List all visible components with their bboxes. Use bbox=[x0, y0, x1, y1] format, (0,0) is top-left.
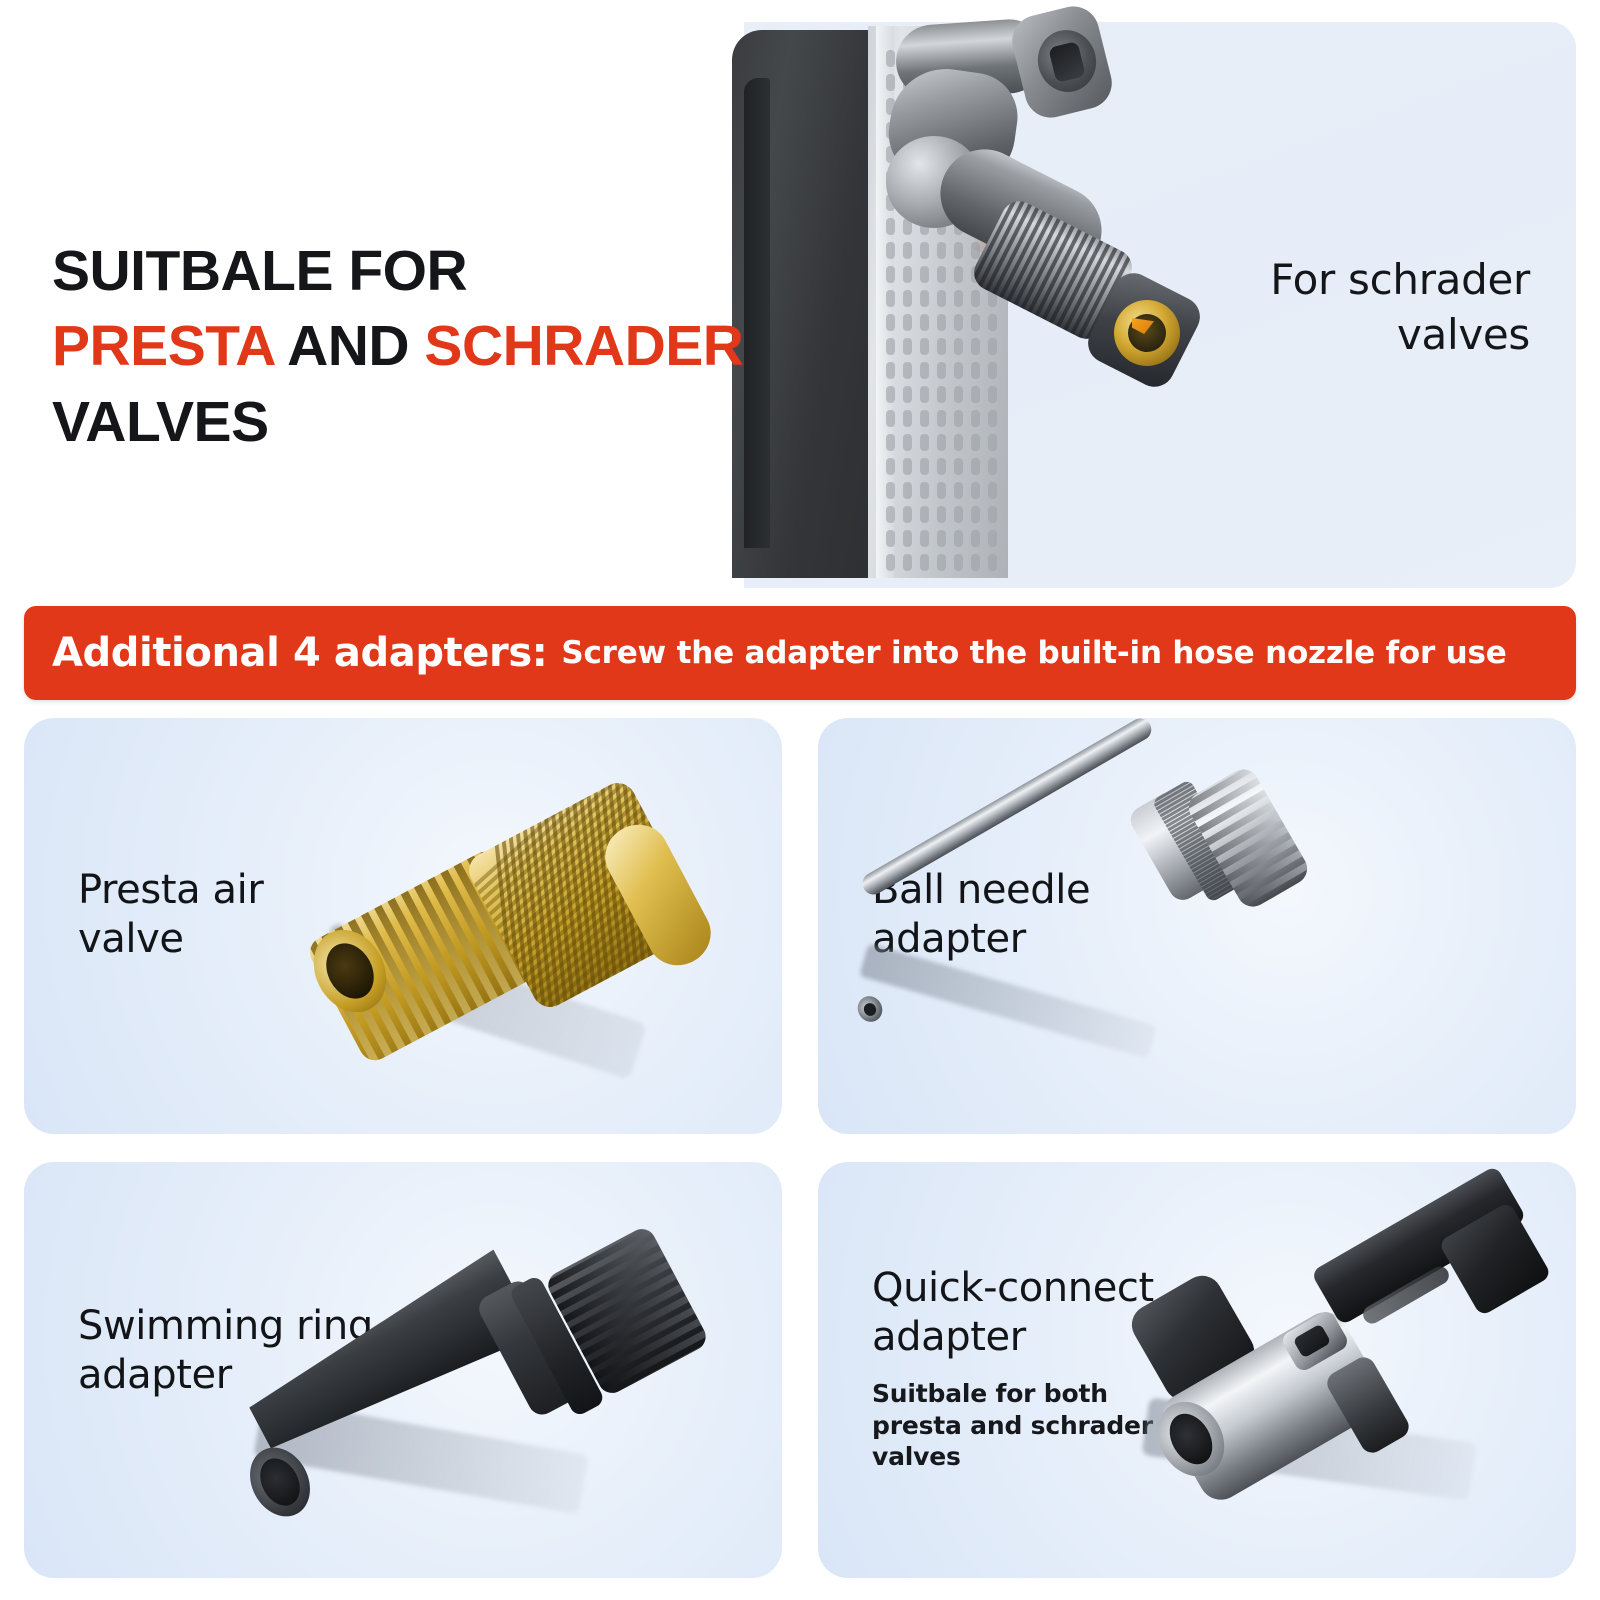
vent-hole bbox=[903, 482, 912, 499]
needle-shadow bbox=[859, 943, 1157, 1058]
vent-hole bbox=[954, 290, 963, 307]
headline-schrader: SCHRADER bbox=[424, 314, 743, 378]
vent-hole bbox=[886, 266, 895, 283]
vent-hole bbox=[920, 338, 929, 355]
vent-hole bbox=[937, 434, 946, 451]
vent-hole bbox=[920, 314, 929, 331]
adapter-card-grid: Presta air valve Ball needle adapter Swi… bbox=[24, 718, 1576, 1578]
vent-hole bbox=[886, 338, 895, 355]
vent-hole bbox=[937, 362, 946, 379]
headline-presta: PRESTA bbox=[52, 314, 274, 378]
vent-hole bbox=[937, 242, 946, 259]
vent-hole bbox=[937, 458, 946, 475]
vent-hole bbox=[937, 410, 946, 427]
vent-hole bbox=[886, 362, 895, 379]
vent-hole bbox=[971, 362, 980, 379]
vent-hole bbox=[988, 314, 997, 331]
vent-hole bbox=[903, 506, 912, 523]
vent-hole bbox=[937, 314, 946, 331]
swimming-ring-illustration bbox=[250, 1210, 750, 1540]
vent-hole bbox=[903, 410, 912, 427]
vent-hole bbox=[971, 290, 980, 307]
vent-hole bbox=[886, 434, 895, 451]
vent-hole bbox=[903, 338, 912, 355]
vent-hole bbox=[903, 554, 912, 571]
presta-valve-illustration bbox=[294, 776, 724, 1096]
vent-hole bbox=[886, 482, 895, 499]
adapters-banner: Additional 4 adapters: Screw the adapter… bbox=[24, 606, 1576, 700]
vent-hole bbox=[903, 266, 912, 283]
vent-hole bbox=[937, 506, 946, 523]
vent-hole bbox=[920, 266, 929, 283]
vent-hole bbox=[988, 482, 997, 499]
vent-hole bbox=[886, 386, 895, 403]
card-subtitle-quick-connect: Suitbale for both presta and schrader va… bbox=[872, 1378, 1172, 1473]
needle-tube bbox=[859, 718, 1156, 899]
vent-hole bbox=[920, 458, 929, 475]
vent-hole bbox=[886, 530, 895, 547]
vent-hole bbox=[886, 410, 895, 427]
vent-hole bbox=[920, 362, 929, 379]
vent-hole bbox=[937, 554, 946, 571]
vent-hole bbox=[886, 218, 895, 235]
vent-hole bbox=[920, 290, 929, 307]
vent-hole bbox=[886, 242, 895, 259]
vent-hole bbox=[954, 554, 963, 571]
vent-hole bbox=[920, 434, 929, 451]
card-swimming-ring-adapter[interactable]: Swimming ring adapter bbox=[24, 1162, 782, 1578]
vent-hole bbox=[937, 386, 946, 403]
vent-hole bbox=[988, 338, 997, 355]
vent-hole bbox=[988, 458, 997, 475]
quick-connect-illustration bbox=[1136, 1210, 1566, 1540]
vent-hole bbox=[937, 530, 946, 547]
vent-hole bbox=[971, 410, 980, 427]
vent-hole bbox=[971, 458, 980, 475]
vent-hole bbox=[886, 554, 895, 571]
vent-hole bbox=[988, 386, 997, 403]
headline-line-1: SUITBALE FOR bbox=[52, 239, 467, 303]
vent-hole bbox=[971, 314, 980, 331]
vent-hole bbox=[954, 266, 963, 283]
vent-hole bbox=[920, 506, 929, 523]
page-headline: SUITBALE FOR PRESTA AND SCHRADER VALVES bbox=[52, 234, 812, 460]
vent-hole bbox=[971, 506, 980, 523]
vent-hole bbox=[920, 482, 929, 499]
card-ball-needle-adapter[interactable]: Ball needle adapter bbox=[818, 718, 1576, 1134]
hero-caption: For schrader valves bbox=[1140, 252, 1530, 363]
card-quick-connect-adapter[interactable]: Quick-connect adapter Suitbale for both … bbox=[818, 1162, 1576, 1578]
vent-hole bbox=[971, 434, 980, 451]
vent-hole bbox=[971, 338, 980, 355]
vent-hole bbox=[937, 266, 946, 283]
vent-hole bbox=[903, 290, 912, 307]
vent-hole bbox=[988, 410, 997, 427]
vent-hole bbox=[988, 530, 997, 547]
vent-hole bbox=[988, 434, 997, 451]
banner-strong-label: Additional 4 adapters: bbox=[52, 630, 547, 676]
vent-hole bbox=[988, 362, 997, 379]
vent-hole bbox=[886, 74, 895, 91]
vent-hole bbox=[903, 530, 912, 547]
vent-hole bbox=[903, 242, 912, 259]
vent-hole bbox=[920, 530, 929, 547]
vent-hole bbox=[954, 314, 963, 331]
thread-ring bbox=[1238, 869, 1312, 912]
vent-hole bbox=[920, 386, 929, 403]
vent-hole bbox=[988, 506, 997, 523]
vent-hole bbox=[971, 554, 980, 571]
vent-hole bbox=[903, 314, 912, 331]
vent-hole bbox=[954, 410, 963, 427]
vent-hole bbox=[920, 410, 929, 427]
vent-hole bbox=[903, 458, 912, 475]
vent-hole bbox=[954, 386, 963, 403]
vent-hole bbox=[954, 362, 963, 379]
vent-hole bbox=[920, 242, 929, 259]
vent-hole bbox=[886, 290, 895, 307]
vent-hole bbox=[903, 362, 912, 379]
vent-hole bbox=[920, 554, 929, 571]
vent-hole bbox=[954, 458, 963, 475]
vent-hole bbox=[971, 482, 980, 499]
vent-hole bbox=[971, 530, 980, 547]
vent-hole bbox=[886, 458, 895, 475]
vent-hole bbox=[988, 554, 997, 571]
vent-hole bbox=[954, 482, 963, 499]
card-presta-air-valve[interactable]: Presta air valve bbox=[24, 718, 782, 1134]
vent-hole bbox=[954, 530, 963, 547]
vent-hole bbox=[903, 386, 912, 403]
vent-hole bbox=[954, 338, 963, 355]
vent-hole bbox=[886, 314, 895, 331]
vent-hole bbox=[971, 386, 980, 403]
vent-hole bbox=[954, 434, 963, 451]
vent-hole bbox=[903, 434, 912, 451]
vent-hole bbox=[937, 482, 946, 499]
headline-and: AND bbox=[274, 314, 425, 378]
vent-hole bbox=[937, 290, 946, 307]
ball-needle-illustration bbox=[848, 758, 1348, 1078]
headline-line-3: VALVES bbox=[52, 390, 269, 454]
vent-hole bbox=[954, 242, 963, 259]
vent-hole bbox=[937, 338, 946, 355]
vent-hole bbox=[954, 506, 963, 523]
vent-hole bbox=[886, 506, 895, 523]
vent-hole bbox=[886, 50, 895, 67]
hero-section: SUITBALE FOR PRESTA AND SCHRADER VALVES … bbox=[0, 0, 1600, 592]
banner-description: Screw the adapter into the built-in hose… bbox=[561, 635, 1506, 671]
